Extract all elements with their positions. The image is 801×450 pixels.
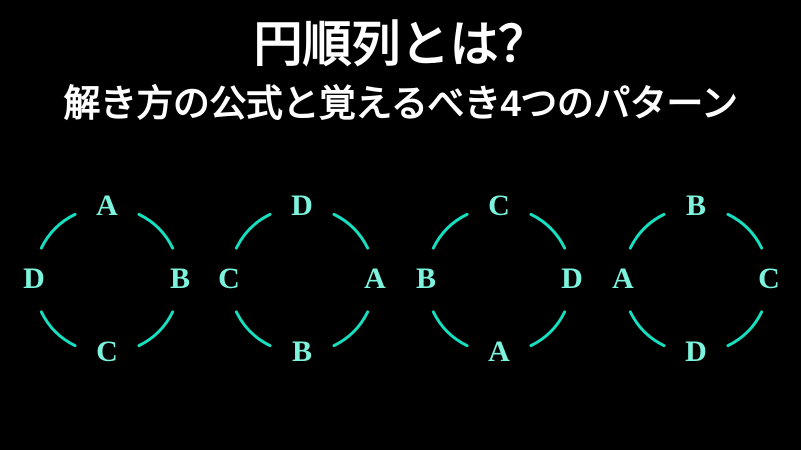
arc-segment: [531, 214, 565, 248]
page-title: 円順列とは？: [0, 14, 801, 76]
node-label-right: C: [749, 264, 789, 294]
circular-permutation-diagram-row: ABCDDABCCDABBCDA: [0, 182, 801, 382]
arc-segment: [433, 214, 467, 248]
arc-segment: [139, 312, 173, 346]
node-label-right: D: [552, 264, 592, 294]
arc-segment: [334, 214, 368, 248]
arc-segment: [41, 312, 75, 346]
headline-block: 円順列とは？ 解き方の公式と覚えるべき4つのパターン: [0, 14, 801, 128]
node-label-bottom: D: [676, 337, 716, 367]
node-label-left: A: [603, 264, 643, 294]
arc-segment: [630, 214, 664, 248]
slide-canvas: 円順列とは？ 解き方の公式と覚えるべき4つのパターン ABCDDABCCDABB…: [0, 0, 801, 450]
arc-segment: [728, 312, 762, 346]
node-label-left: B: [406, 264, 446, 294]
node-label-bottom: B: [282, 337, 322, 367]
arc-segment: [728, 214, 762, 248]
node-label-right: A: [355, 264, 395, 294]
arc-segment: [236, 214, 270, 248]
arc-segment: [531, 312, 565, 346]
circle-diagram-pattern-2: DABC: [204, 182, 400, 382]
circle-diagram-pattern-4: BCDA: [598, 182, 794, 382]
arc-segment: [236, 312, 270, 346]
node-label-left: D: [14, 264, 54, 294]
arc-segment: [139, 214, 173, 248]
node-label-top: C: [479, 191, 519, 221]
circle-diagram-pattern-3: CDAB: [401, 182, 597, 382]
node-label-right: B: [160, 264, 200, 294]
arc-segment: [433, 312, 467, 346]
arc-segment: [334, 312, 368, 346]
circle-diagram-pattern-1: ABCD: [9, 182, 205, 382]
node-label-bottom: A: [479, 337, 519, 367]
page-subtitle: 解き方の公式と覚えるべき4つのパターン: [0, 80, 801, 128]
node-label-left: C: [209, 264, 249, 294]
node-label-top: A: [87, 191, 127, 221]
arc-segment: [630, 312, 664, 346]
node-label-top: B: [676, 191, 716, 221]
arc-segment: [41, 214, 75, 248]
node-label-top: D: [282, 191, 322, 221]
node-label-bottom: C: [87, 337, 127, 367]
